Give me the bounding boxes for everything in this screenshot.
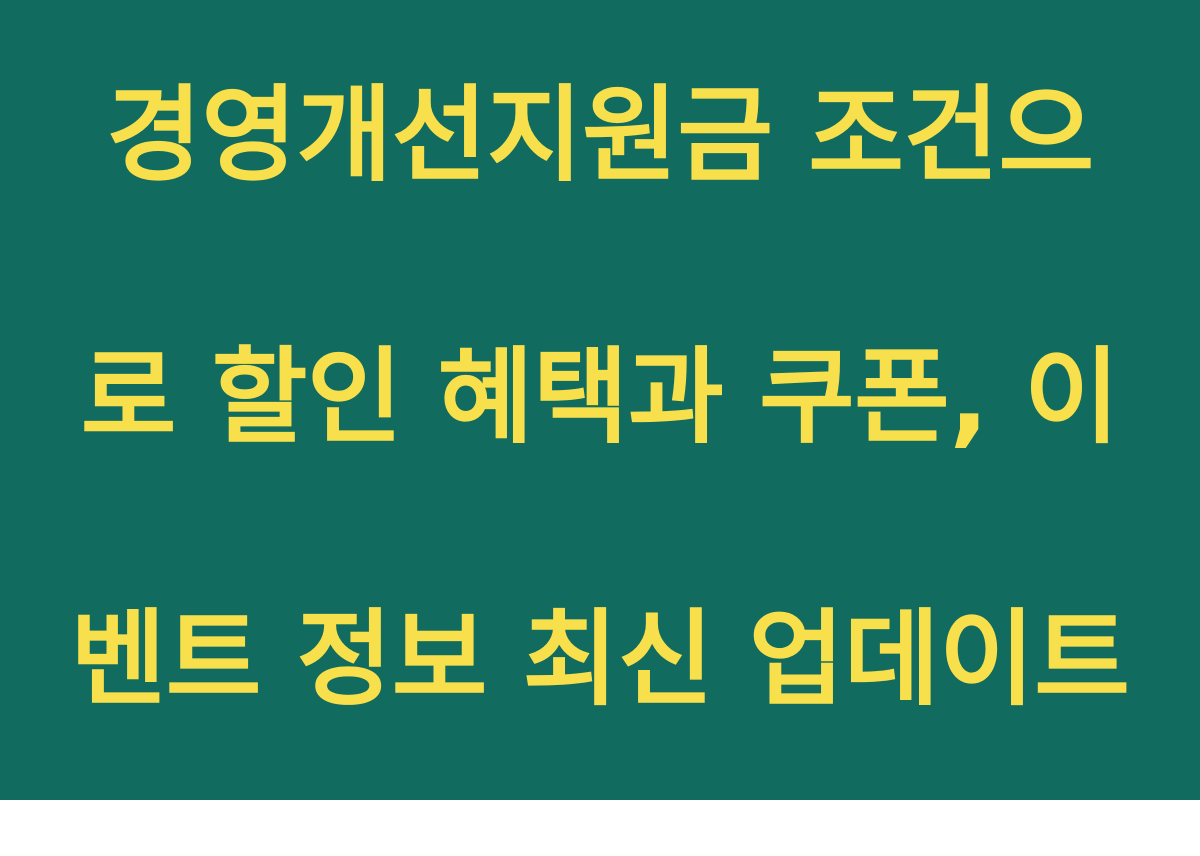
promo-banner: 경영개선지원금 조건으 로 할인 혜택과 쿠폰, 이 벤트 정보 최신 업데이트 bbox=[0, 0, 1200, 800]
headline-line-2: 로 할인 혜택과 쿠폰, 이 bbox=[70, 332, 1130, 463]
headline-line-3: 벤트 정보 최신 업데이트 bbox=[70, 594, 1130, 725]
page-title: 경영개선지원금 조건으 로 할인 혜택과 쿠폰, 이 벤트 정보 최신 업데이트 bbox=[70, 0, 1130, 856]
headline-line-1: 경영개선지원금 조건으 bbox=[70, 70, 1130, 201]
